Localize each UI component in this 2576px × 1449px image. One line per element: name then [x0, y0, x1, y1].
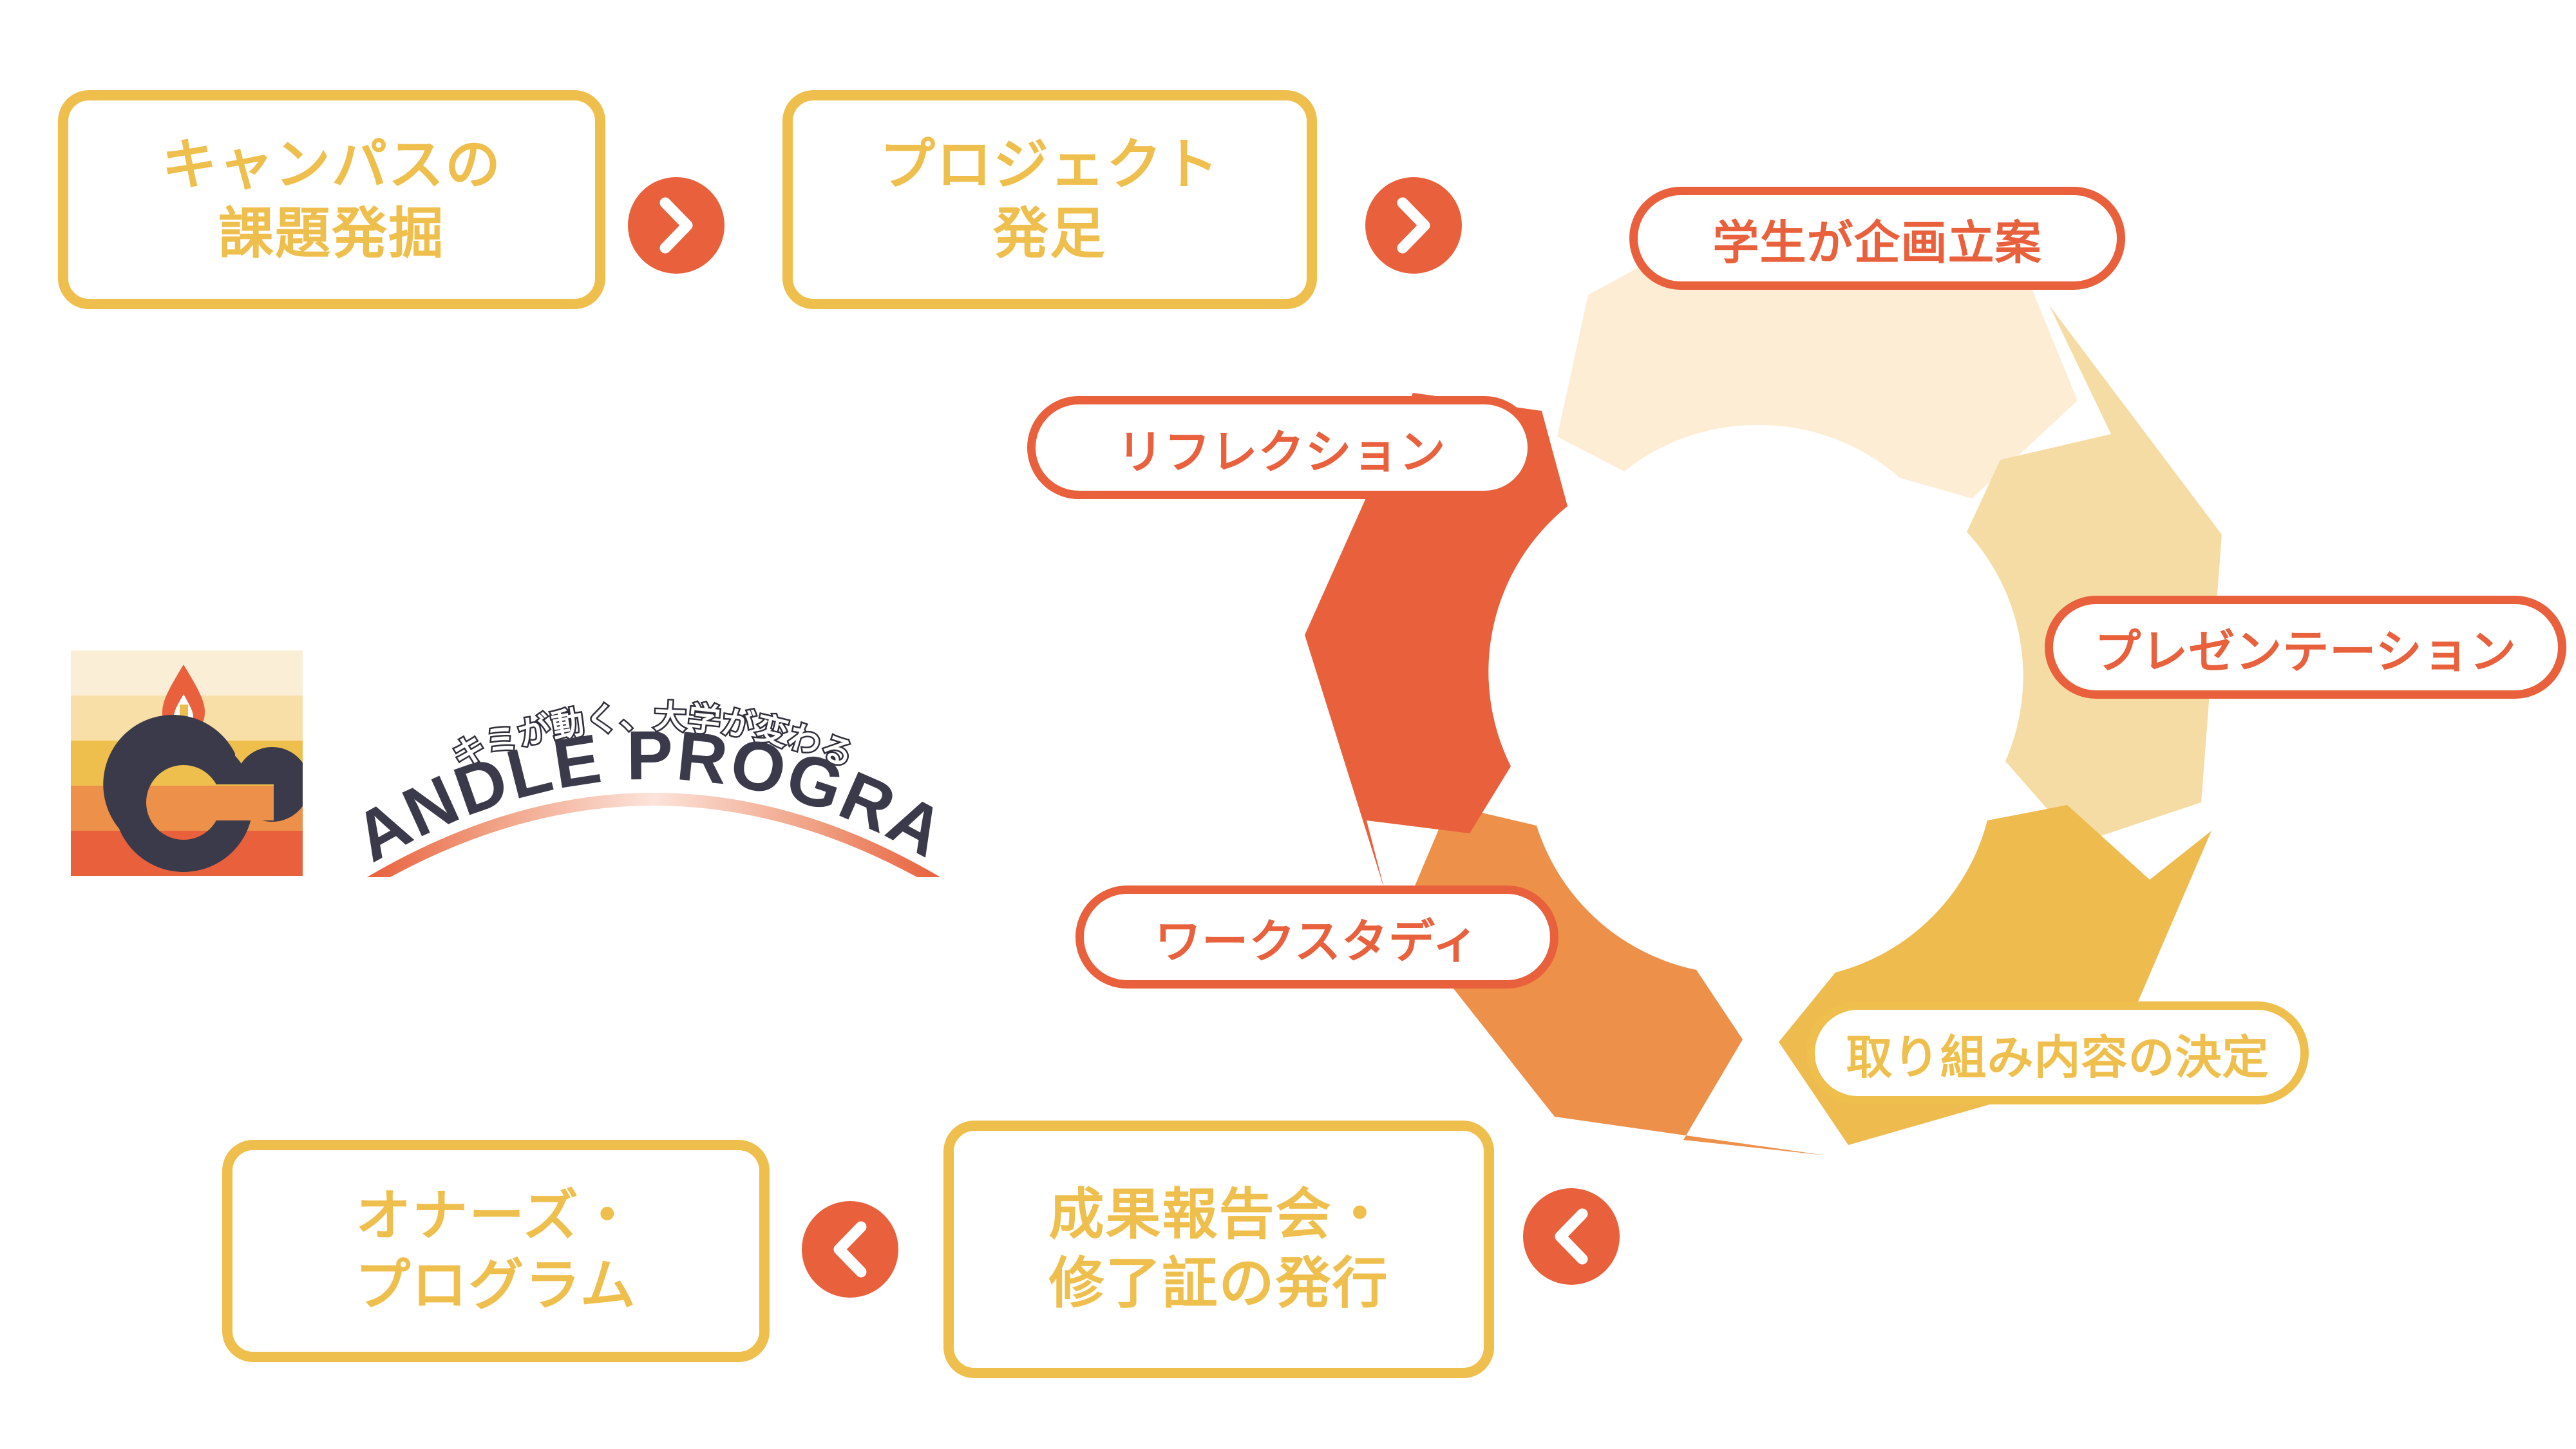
flow-step-campus[interactable]: キャンパスの 課題発掘 — [58, 90, 605, 309]
cycle-label-reflection[interactable]: リフレクション — [1027, 396, 1536, 499]
cycle-label-plan[interactable]: 学生が企画立案 — [1629, 187, 2125, 290]
candle-c-icon — [71, 650, 303, 876]
flow-step-project-line-2: 発足 — [993, 200, 1106, 269]
brand-lockup: キミが動く、大学が変わる CANDLE PROGRAM — [71, 650, 972, 882]
flow-step-campus-line-1: キャンパスの — [162, 131, 502, 200]
flow-step-project[interactable]: プロジェクト 発足 — [782, 90, 1317, 309]
flow-step-honors-line-1: オナーズ・ — [355, 1182, 636, 1251]
flow-step-honors-program[interactable]: オナーズ・ プログラム — [222, 1140, 770, 1362]
chevron-left-icon[interactable] — [1523, 1188, 1620, 1285]
brand-wordmark: キミが動く、大学が変わる CANDLE PROGRAM — [348, 638, 960, 882]
brand-wordmark-text: CANDLE PROGRAM — [348, 638, 959, 876]
cycle-label-decide[interactable]: 取り組み内容の決定 — [1806, 1001, 2309, 1104]
flow-step-honors-line-2: プログラム — [355, 1251, 636, 1321]
flow-step-project-line-1: プロジェクト — [880, 131, 1220, 200]
chevron-right-icon[interactable] — [628, 177, 724, 274]
flow-step-campus-line-2: 課題発掘 — [218, 200, 445, 269]
cycle-center — [1537, 455, 1980, 898]
cycle-label-presentation[interactable]: プレゼンテーション — [2045, 596, 2566, 699]
flow-step-report-line-2: 修了証の発行 — [1049, 1249, 1389, 1319]
cycle-label-workstudy[interactable]: ワークスタディ — [1075, 885, 1558, 989]
chevron-left-icon[interactable] — [802, 1201, 898, 1298]
diagram-canvas: キャンパスの 課題発掘 プロジェクト 発足 オナーズ・ プログラム 成果報告会・… — [0, 0, 2576, 1449]
